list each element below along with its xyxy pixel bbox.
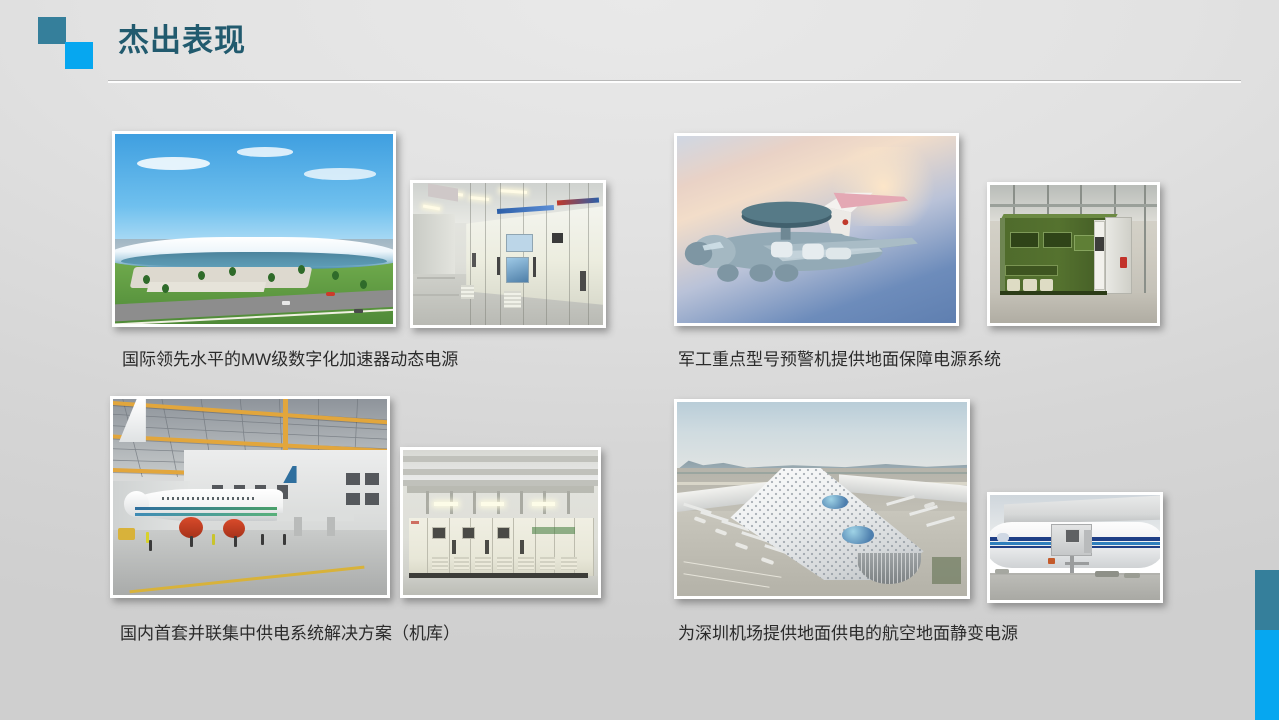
slide-header: 杰出表现 <box>0 0 1279 90</box>
photo-accelerator-cabinets[interactable] <box>410 180 606 328</box>
accent-bar-dark <box>1255 570 1279 630</box>
photo-aircraft-ground-power[interactable] <box>987 492 1163 603</box>
header-divider <box>108 80 1241 83</box>
page-title: 杰出表现 <box>118 19 246 63</box>
decor-square-bright <box>65 42 93 69</box>
photo-accelerator-facility[interactable] <box>112 131 396 327</box>
accent-bar-bright <box>1255 630 1279 720</box>
photo-military-shelter[interactable] <box>987 182 1160 326</box>
slide-root: 杰出表现 <box>0 0 1279 720</box>
caption-accelerator: 国际领先水平的MW级数字化加速器动态电源 <box>122 348 458 372</box>
photo-shenzhen-terminal[interactable] <box>674 399 970 599</box>
decor-square-dark <box>38 17 66 44</box>
photo-hangar-interior[interactable] <box>110 396 390 598</box>
caption-awacs: 军工重点型号预警机提供地面保障电源系统 <box>678 348 1001 372</box>
caption-shenzhen: 为深圳机场提供地面供电的航空地面静变电源 <box>678 622 1018 646</box>
awacs-aircraft-shape <box>677 136 956 323</box>
decor-squares <box>38 17 94 69</box>
photo-awacs-aircraft[interactable] <box>674 133 959 326</box>
caption-hangar: 国内首套并联集中供电系统解决方案（机库） <box>120 622 460 646</box>
photo-hangar-cabinets[interactable] <box>400 447 601 598</box>
